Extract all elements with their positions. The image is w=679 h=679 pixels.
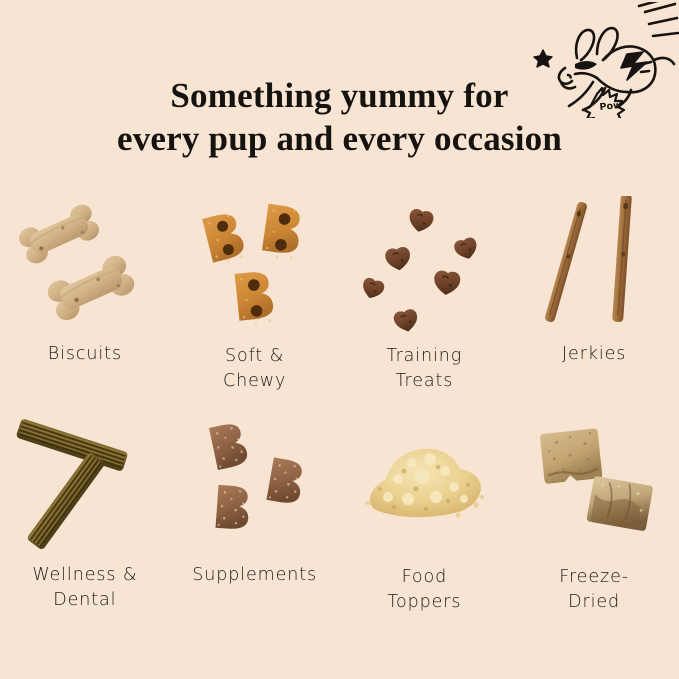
category-supplements[interactable]: Supplements: [170, 411, 340, 641]
powder-pile-image: [350, 411, 500, 551]
category-training-treats[interactable]: Training Treats: [340, 196, 510, 411]
doodle-burst-label: Pow: [599, 100, 623, 113]
category-jerkies[interactable]: Jerkies: [509, 196, 679, 411]
category-label-soft-chewy: Soft & Chewy: [223, 344, 286, 394]
category-wellness-dental[interactable]: Wellness & Dental: [0, 411, 170, 641]
category-label-food-toppers: Food Toppers: [387, 565, 461, 615]
category-label-supplements: Supplements: [192, 563, 317, 588]
category-food-toppers[interactable]: Food Toppers: [340, 411, 510, 641]
category-biscuits[interactable]: Biscuits: [0, 196, 170, 411]
category-label-biscuits: Biscuits: [48, 342, 122, 367]
page-title-line-2: every pup and every occasion: [0, 117, 679, 160]
letter-b-chews-image: [181, 196, 331, 336]
category-label-wellness-dental: Wellness & Dental: [32, 563, 137, 613]
category-soft-chewy[interactable]: Soft & Chewy: [170, 196, 340, 411]
category-row-2: Wellness & Dental: [0, 411, 679, 641]
category-label-freeze-dried: Freeze- Dried: [559, 565, 629, 615]
category-label-training-treats: Training Treats: [387, 344, 463, 394]
bone-biscuits-image: [7, 196, 157, 336]
ridged-dental-sticks-image: [8, 411, 158, 551]
freeze-dried-squares-image: [522, 411, 672, 551]
category-row-1: Biscuits: [0, 196, 679, 411]
category-grid: Biscuits: [0, 196, 679, 641]
jerky-sticks-image: [522, 196, 672, 336]
promo-graphic: Something yummy for every pup and every …: [0, 0, 679, 679]
mini-heart-kibble-image: [351, 196, 501, 336]
category-label-jerkies: Jerkies: [562, 342, 626, 367]
running-dog-doodle: Pow: [527, 2, 679, 118]
category-freeze-dried[interactable]: Freeze- Dried: [509, 411, 679, 641]
textured-b-chews-image: [182, 411, 332, 551]
